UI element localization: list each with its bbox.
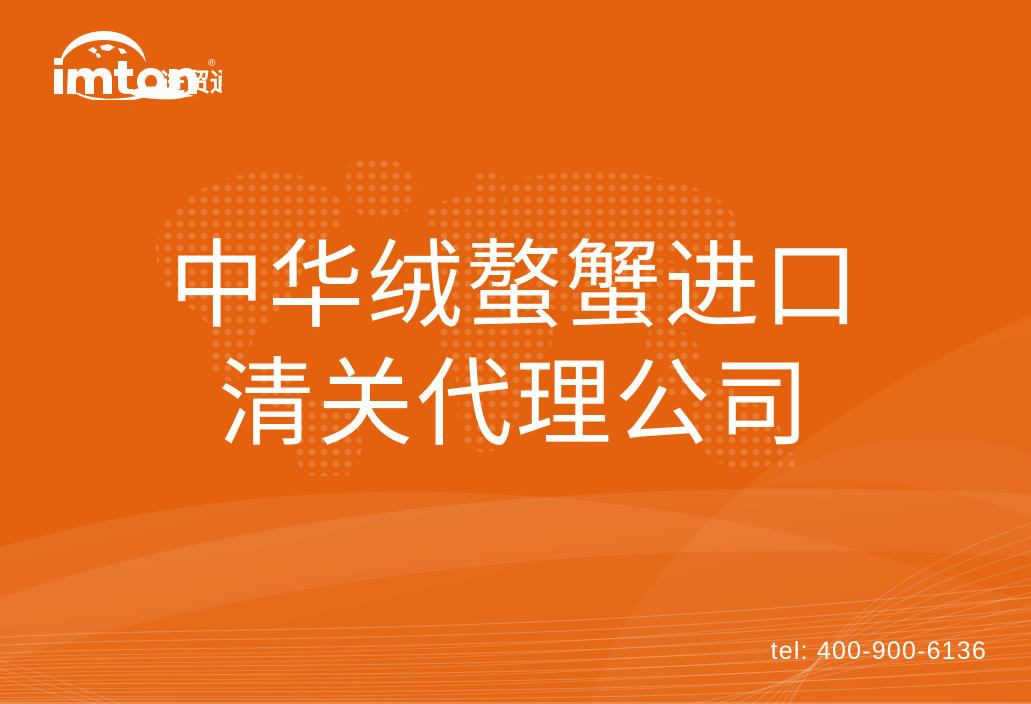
promotional-banner: 进贸通 ® 中华绒螯蟹进口 清关代理公司 tel: 400-900-6136 (0, 0, 1031, 704)
page-title: 中华绒螯蟹进口 清关代理公司 (0, 228, 1031, 464)
logo-chinese-name: 进贸通 (160, 68, 222, 97)
contact-phone: tel: 400-900-6136 (771, 637, 987, 666)
headline-line-1: 中华绒螯蟹进口 (0, 228, 1031, 346)
brand-logo[interactable]: 进贸通 ® (36, 28, 222, 100)
registered-trademark-mark: ® (208, 58, 216, 69)
headline-line-2: 清关代理公司 (0, 346, 1031, 464)
